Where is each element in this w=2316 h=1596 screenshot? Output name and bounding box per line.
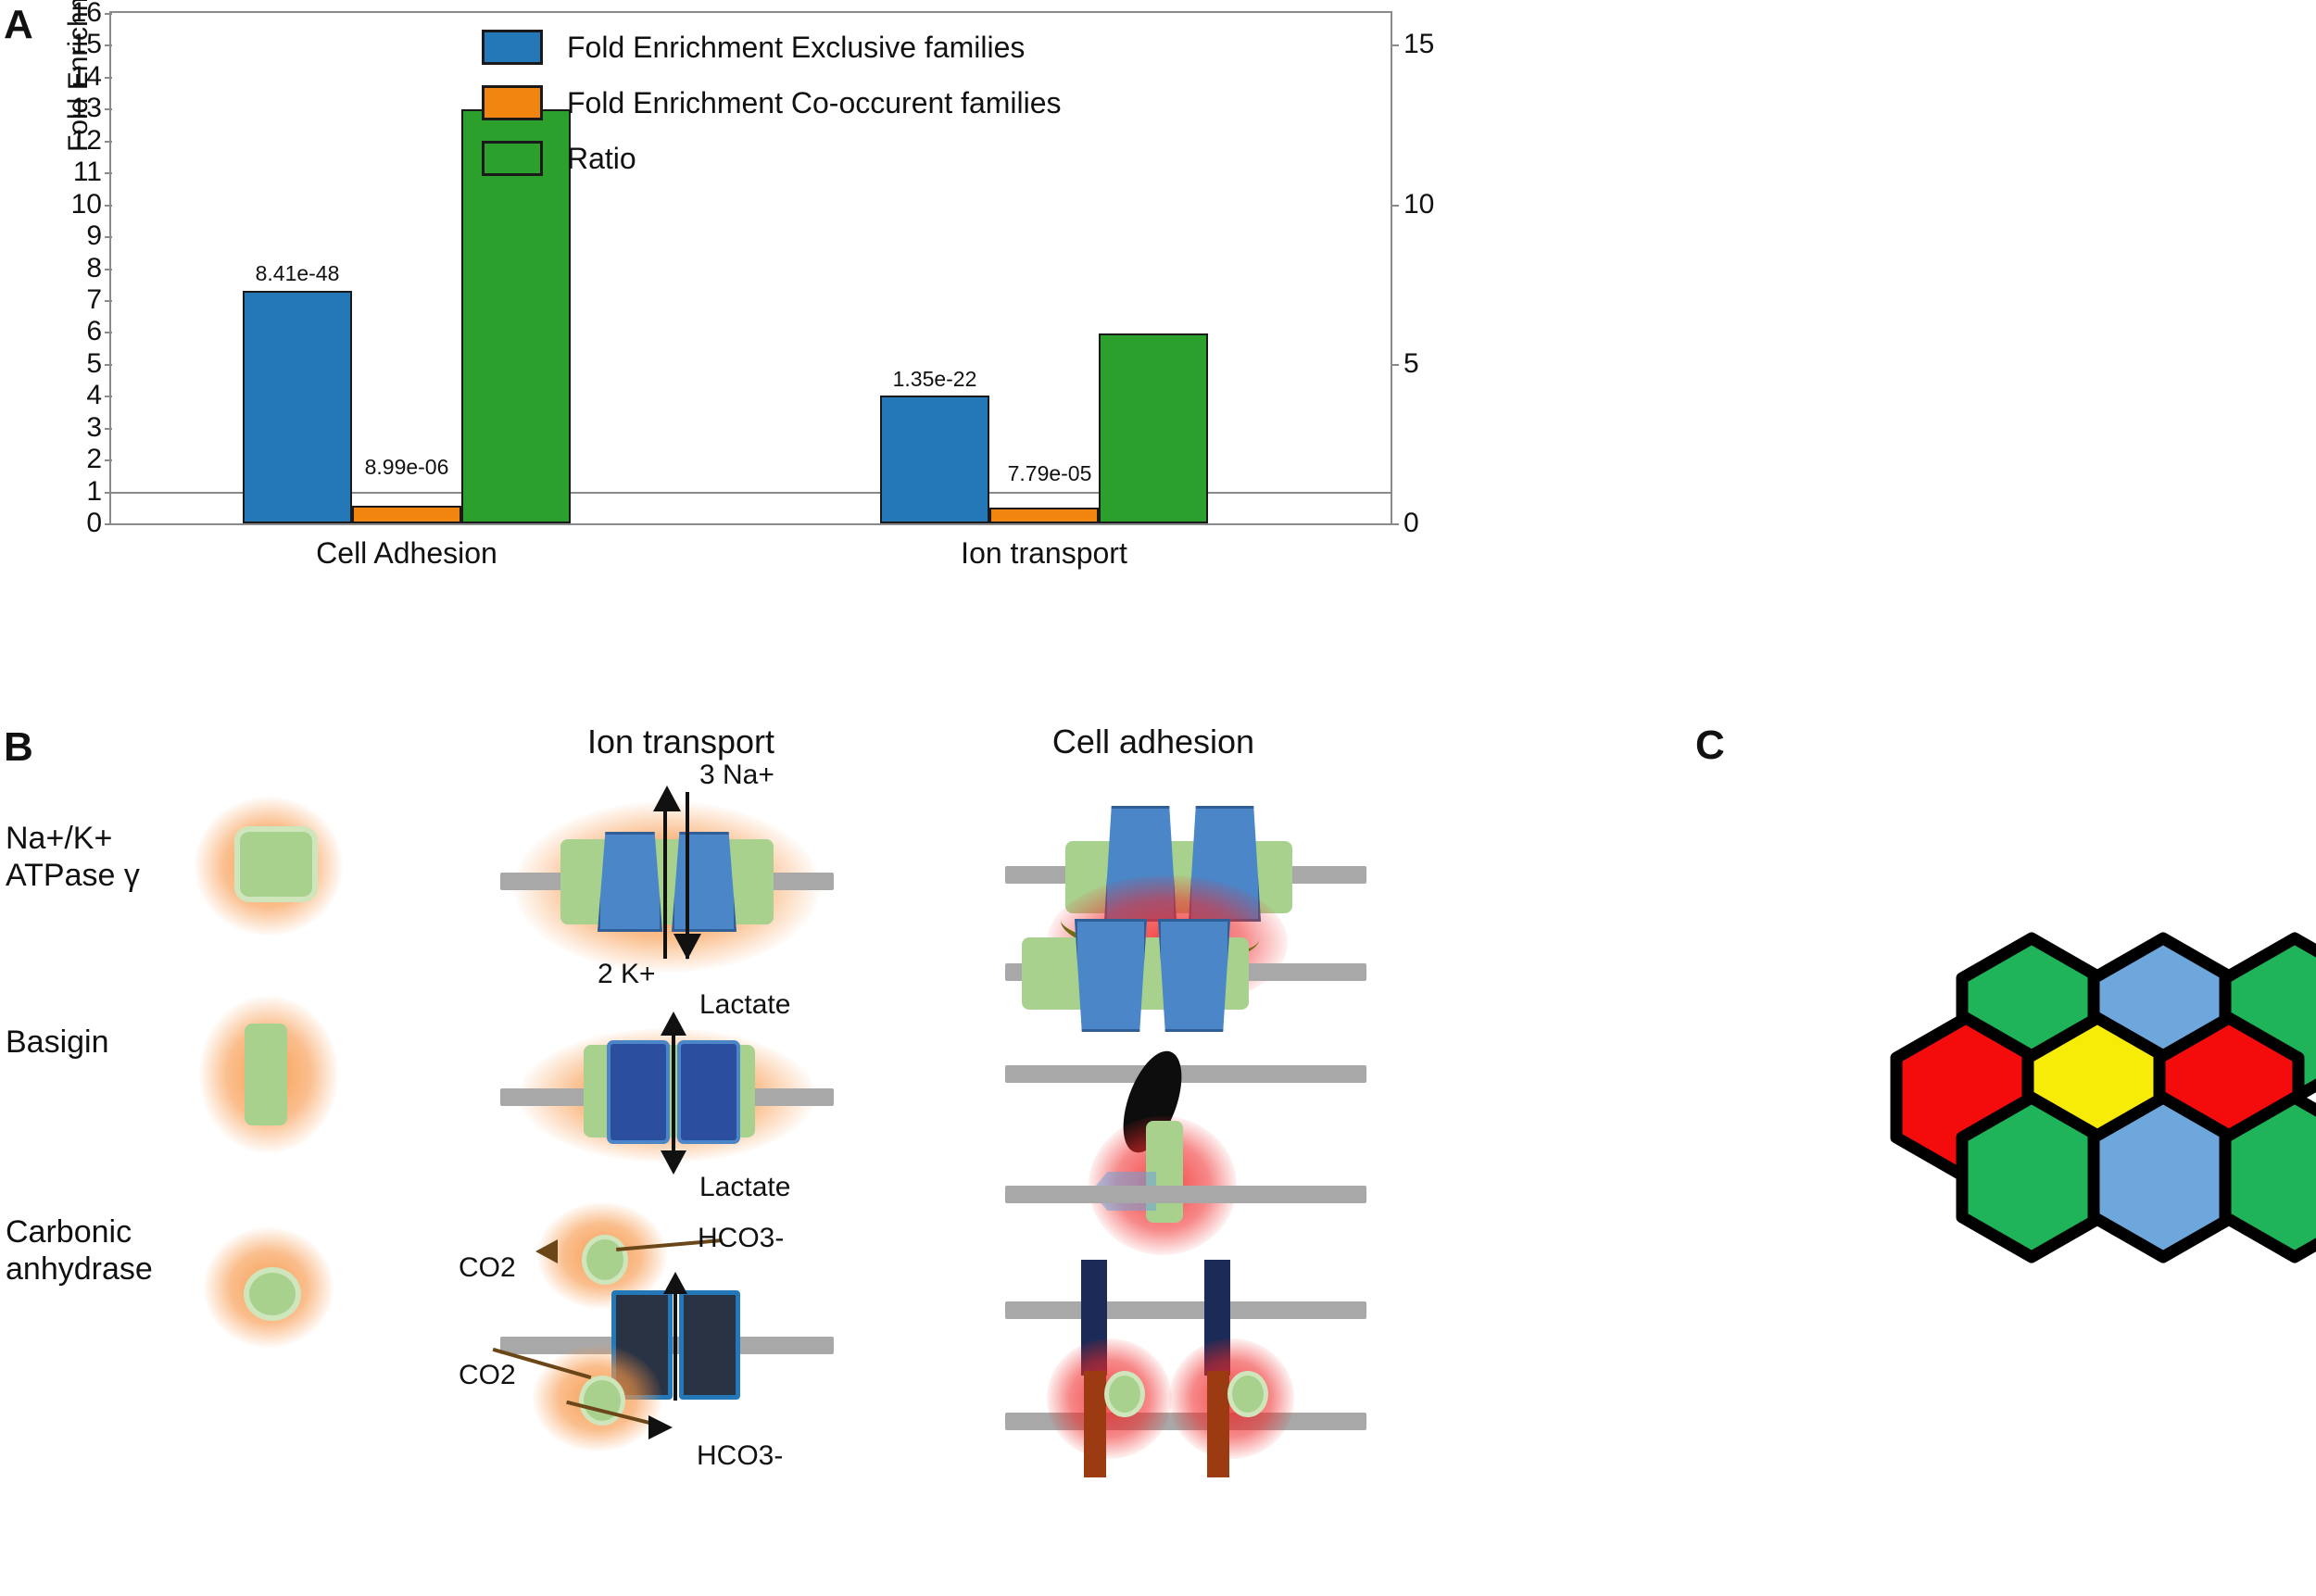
protein-icon-atpase	[234, 826, 318, 902]
bicarbonate-transporter-right	[679, 1290, 740, 1400]
carbonic-enzyme-top-icon	[582, 1235, 628, 1285]
legend-label-exclusive: Fold Enrichment Exclusive families	[567, 31, 1025, 65]
adhesion-pump-c	[1075, 919, 1147, 1032]
y-tick-left: 9	[37, 222, 111, 250]
y-tick-left: 15	[37, 31, 111, 58]
bar-cell-adhesion-exclusive	[243, 291, 352, 523]
y-tick-left: 11	[37, 158, 111, 186]
chart-plot-area: Fold Enrichment 16 15 14 13 12 11 10 9 8…	[109, 11, 1392, 525]
column-title-ion-transport: Ion transport	[587, 723, 774, 761]
y-tick-left: 13	[37, 94, 111, 122]
lactate-arrow-head-down-icon	[661, 1150, 686, 1175]
x-category-label-ion-transport: Ion transport	[961, 536, 1127, 571]
label-lactate-bottom: Lactate	[699, 1172, 790, 1203]
bar-ion-transport-ratio	[1099, 333, 1208, 523]
legend-label-cooccurent: Fold Enrichment Co-occurent families	[567, 86, 1062, 120]
mct-subunit-left	[607, 1040, 670, 1144]
na-arrow-head-icon	[653, 785, 681, 811]
pump-subunit-right	[672, 832, 736, 932]
hco3-arrow-shaft	[673, 1278, 677, 1401]
y-tick-right: 15	[1391, 31, 1434, 58]
membrane-bar	[1005, 1065, 1366, 1083]
anchor-left	[1084, 1371, 1106, 1477]
row-label-basigin: Basigin	[6, 1024, 109, 1061]
panel-b-diagram: B Ion transport Cell adhesion Na+/K+ ATP…	[0, 723, 1575, 1596]
bar-cell-adhesion-cooccurent	[352, 506, 461, 523]
y-tick-left: 12	[37, 127, 111, 155]
label-hco3-top: HCO3-	[698, 1223, 784, 1254]
carbonic-enzyme-adhesion-left-icon	[1104, 1371, 1145, 1417]
row-label-carbonic-anhydrase: Carbonic anhydrase	[6, 1213, 153, 1288]
y-tick-left: 7	[37, 286, 111, 314]
y-tick-left: 16	[37, 0, 111, 27]
bar-label-cell-adhesion-cooccurent: 8.99e-06	[365, 455, 449, 480]
y-tick-left: 14	[37, 63, 111, 91]
co2-top-arrow-head-icon	[535, 1239, 558, 1263]
hex-bot-0	[1962, 1098, 2101, 1257]
legend-item-ratio: Ratio	[482, 141, 1062, 176]
legend-item-exclusive: Fold Enrichment Exclusive families	[482, 30, 1062, 65]
na-arrow-shaft	[663, 792, 667, 959]
y-tick-right: 5	[1391, 350, 1419, 378]
bar-label-ion-transport-exclusive: 1.35e-22	[893, 367, 977, 392]
legend-label-ratio: Ratio	[567, 142, 636, 176]
legend-swatch-blue-icon	[482, 30, 543, 65]
y-tick-left: 1	[37, 478, 111, 506]
panel-c-hexgrid: C	[1695, 723, 2316, 1464]
y-tick-right: 10	[1391, 191, 1434, 219]
y-tick-left: 6	[37, 318, 111, 346]
label-lactate-top: Lactate	[699, 989, 790, 1021]
mct-subunit-right	[677, 1040, 740, 1144]
panel-a-chart: A Fold Enrichment 16 15 14 13 12 11 10 9…	[0, 0, 1482, 593]
protein-icon-basigin	[245, 1024, 287, 1125]
hexagon-cluster	[1695, 806, 2316, 1454]
lactate-arrow-shaft	[672, 1019, 675, 1167]
x-category-label-cell-adhesion: Cell Adhesion	[316, 536, 497, 571]
pump-subunit-left	[598, 832, 662, 932]
label-3-na: 3 Na+	[699, 760, 774, 791]
y-tick-left: 10	[37, 191, 111, 219]
bar-label-ion-transport-cooccurent: 7.79e-05	[1008, 461, 1092, 486]
panel-b-letter: B	[4, 724, 33, 771]
hex-bot-1	[2094, 1098, 2233, 1257]
adhesion-pump-d	[1158, 919, 1230, 1032]
column-title-cell-adhesion: Cell adhesion	[1052, 723, 1254, 761]
y-tick-left: 3	[37, 414, 111, 442]
legend-swatch-green-icon	[482, 141, 543, 176]
co2-bottom-arrow-head-icon	[648, 1415, 673, 1439]
y-tick-left: 0	[37, 509, 111, 537]
panel-c-letter: C	[1695, 723, 1725, 769]
membrane-bar	[1005, 1186, 1366, 1203]
label-hco3-bottom: HCO3-	[697, 1440, 783, 1472]
hco3-arrow-head-icon	[663, 1272, 687, 1294]
lactate-arrow-head-up-icon	[661, 1012, 686, 1036]
legend-swatch-orange-icon	[482, 85, 543, 120]
y-tick-left: 8	[37, 255, 111, 283]
y-tick-left: 4	[37, 382, 111, 409]
carbonic-enzyme-bottom-icon	[579, 1376, 625, 1426]
green-gamma-subunit	[560, 839, 774, 924]
chart-legend: Fold Enrichment Exclusive families Fold …	[482, 30, 1062, 196]
legend-item-cooccurent: Fold Enrichment Co-occurent families	[482, 85, 1062, 120]
label-co2-bottom: CO2	[459, 1360, 516, 1391]
k-arrow-head-icon	[673, 934, 701, 960]
y-tick-right: 0	[1391, 509, 1419, 537]
anchor-right	[1207, 1371, 1229, 1477]
y-tick-left: 2	[37, 446, 111, 473]
y-tick-left: 5	[37, 350, 111, 378]
membrane-bar	[1005, 1301, 1366, 1319]
bar-label-cell-adhesion-exclusive: 8.41e-48	[256, 261, 340, 286]
bar-ion-transport-exclusive	[880, 396, 989, 523]
bar-ion-transport-cooccurent	[989, 508, 1099, 523]
label-2-k: 2 K+	[598, 959, 656, 990]
label-co2-top: CO2	[459, 1252, 516, 1284]
panel-a-letter: A	[4, 2, 33, 48]
row-label-na-k-atpase: Na+/K+ ATPase γ	[6, 820, 140, 894]
carbonic-enzyme-adhesion-right-icon	[1227, 1371, 1268, 1417]
protein-icon-carbonic	[244, 1267, 301, 1321]
